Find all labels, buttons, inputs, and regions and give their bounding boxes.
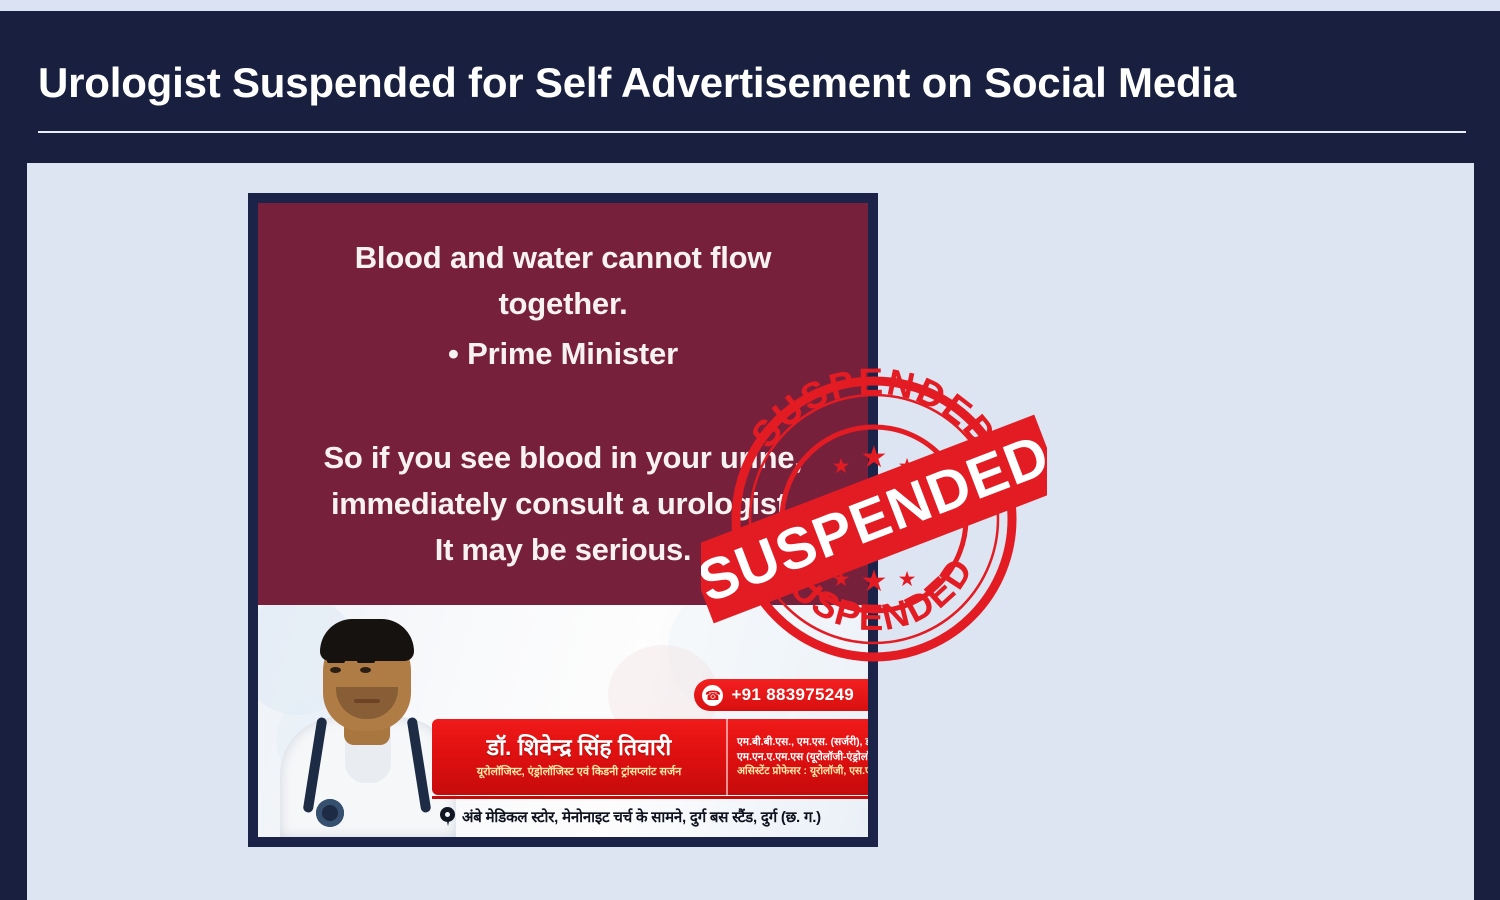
- doctor-eye-right: [360, 667, 371, 673]
- poster-quote-line-2: together.: [498, 286, 627, 321]
- doctor-eyebrow-right: [357, 659, 375, 663]
- doctor-eye-left: [330, 667, 341, 673]
- page-title: Urologist Suspended for Self Advertiseme…: [38, 59, 1236, 107]
- page-header: Urologist Suspended for Self Advertiseme…: [0, 11, 1500, 163]
- suspended-stamp-graphic: SUSPENDED SUSPENDED ★ ★ ★ ★ ★ ★: [701, 343, 1047, 679]
- doctor-mouth: [354, 699, 380, 703]
- phone-number: +91 883975249: [731, 685, 854, 705]
- top-accent-strip: [0, 0, 1500, 11]
- qualification-line-3: असिस्टेंट प्रोफेसर : यूरोलॉजी, एस.एस.आई.…: [737, 764, 868, 778]
- svg-text:★: ★: [898, 568, 917, 591]
- location-pin-hole: [445, 812, 450, 817]
- poster-quote-line-1: Blood and water cannot flow: [355, 240, 772, 275]
- doctor-name: डॉ. शिवेन्द्र सिंह तिवारी: [487, 735, 671, 760]
- poster-advice-line-3: It may be serious.: [435, 532, 691, 567]
- content-panel: Blood and water cannot flow together. • …: [27, 163, 1474, 900]
- doctor-specialty: यूरोलॉजिस्ट, एंड्रोलॉजिस्ट एवं किडनी ट्र…: [477, 764, 681, 779]
- clinic-address-row: अंबे मेडिकल स्टोर, मेनोनाइट चर्च के सामन…: [432, 801, 868, 833]
- location-pin-icon: [440, 807, 455, 827]
- clinic-address: अंबे मेडिकल स्टोर, मेनोनाइट चर्च के सामन…: [462, 807, 821, 827]
- banner-red-rule: [432, 796, 868, 799]
- doctor-qualifications: एम.बी.बी.एस., एम.एस. (सर्जरी), डी.एन.बी.…: [728, 719, 868, 795]
- page-root: Urologist Suspended for Self Advertiseme…: [0, 0, 1500, 900]
- doctor-eyebrow-left: [327, 659, 345, 663]
- qualification-line-1: एम.बी.बी.एस., एम.एस. (सर्जरी), डी.एन.बी.…: [737, 735, 868, 749]
- phone-badge: ☎ +91 883975249: [694, 679, 868, 711]
- doctor-hair: [320, 619, 414, 661]
- doctor-name-bar: डॉ. शिवेन्द्र सिंह तिवारी यूरोलॉजिस्ट, ए…: [432, 719, 868, 795]
- qualification-line-2: एम.एन.ए.एम.एस (यूरोलॉजी-एंड्रोलॉजी), (मद…: [737, 750, 868, 764]
- doctor-identity: डॉ. शिवेन्द्र सिंह तिवारी यूरोलॉजिस्ट, ए…: [432, 719, 728, 795]
- phone-icon: ☎: [702, 685, 723, 706]
- svg-text:★: ★: [832, 455, 851, 478]
- svg-text:★: ★: [861, 441, 888, 474]
- svg-text:★: ★: [861, 565, 888, 598]
- header-divider: [38, 131, 1466, 133]
- stethoscope-bell: [316, 799, 344, 827]
- suspended-stamp: SUSPENDED SUSPENDED ★ ★ ★ ★ ★ ★: [701, 343, 1047, 679]
